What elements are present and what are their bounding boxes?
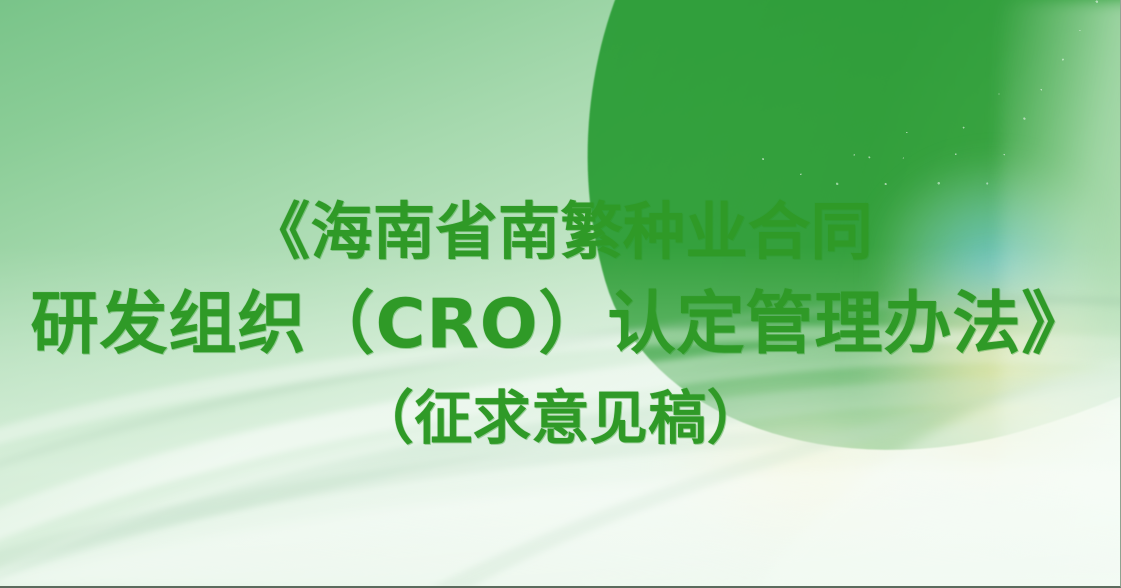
title-line-3: （征求意见稿） xyxy=(0,372,1121,464)
title-line-2: 研发组织（CRO）认定管理办法》 xyxy=(0,278,1121,372)
title-slide: 《海南省南繁种业合同 研发组织（CRO）认定管理办法》 （征求意见稿） xyxy=(0,0,1121,588)
page-title: 《海南省南繁种业合同 研发组织（CRO）认定管理办法》 （征求意见稿） xyxy=(0,186,1121,464)
title-line-1: 《海南省南繁种业合同 xyxy=(0,186,1121,278)
